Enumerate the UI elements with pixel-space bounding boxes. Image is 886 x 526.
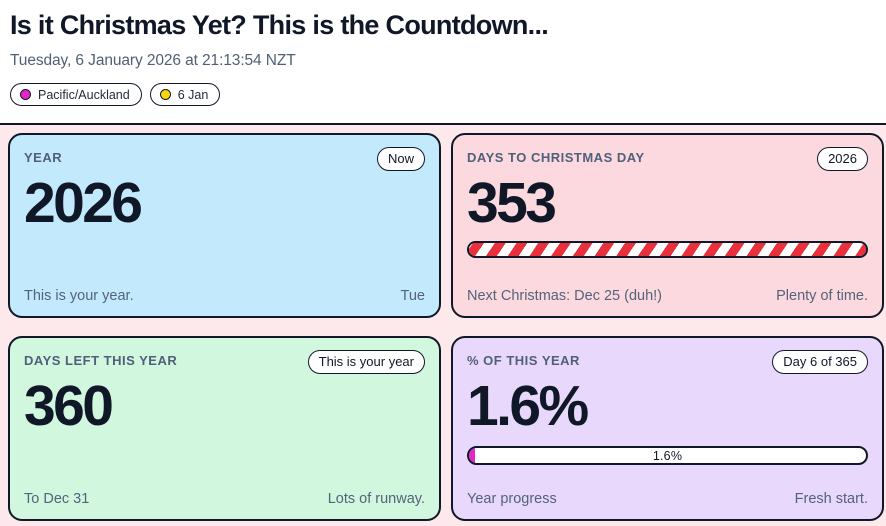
percent-year-card-foot-right: Fresh start. bbox=[795, 491, 868, 507]
countdown-page: Is it Christmas Yet? This is the Countdo… bbox=[0, 0, 886, 526]
percent-year-card[interactable]: % OF THIS YEAR Day 6 of 365 1.6% 1.6% Ye… bbox=[451, 336, 884, 521]
days-left-card-pill[interactable]: This is your year bbox=[308, 350, 425, 374]
timezone-badge[interactable]: Pacific/Auckland bbox=[10, 83, 142, 106]
days-left-card-value: 360 bbox=[24, 376, 425, 436]
magenta-dot-icon bbox=[20, 89, 31, 100]
christmas-card-foot-left: Next Christmas: Dec 25 (duh!) bbox=[467, 288, 662, 304]
timezone-badge-label: Pacific/Auckland bbox=[38, 87, 130, 103]
christmas-card-top: DAYS TO CHRISTMAS DAY 2026 bbox=[467, 147, 868, 171]
candy-cane-bar-fill bbox=[469, 243, 866, 256]
days-left-card-foot-right: Lots of runway. bbox=[328, 491, 425, 507]
year-card-label: YEAR bbox=[24, 147, 62, 167]
percent-year-card-value: 1.6% bbox=[467, 376, 868, 436]
days-left-card-foot: To Dec 31 Lots of runway. bbox=[24, 491, 425, 509]
christmas-card-value: 353 bbox=[467, 173, 868, 233]
percent-year-card-foot: Year progress Fresh start. bbox=[467, 491, 868, 509]
badge-row: Pacific/Auckland 6 Jan bbox=[10, 83, 876, 106]
candy-cane-bar bbox=[467, 241, 868, 258]
year-progress-bar-label: 1.6% bbox=[469, 448, 866, 463]
christmas-card-pill[interactable]: 2026 bbox=[817, 147, 868, 171]
year-card-value: 2026 bbox=[24, 173, 425, 233]
page-title: Is it Christmas Yet? This is the Countdo… bbox=[10, 8, 876, 42]
page-header: Is it Christmas Yet? This is the Countdo… bbox=[0, 0, 886, 123]
percent-year-card-pill[interactable]: Day 6 of 365 bbox=[772, 350, 868, 374]
year-progress-bar: 1.6% bbox=[467, 446, 868, 465]
christmas-card-foot: Next Christmas: Dec 25 (duh!) Plenty of … bbox=[467, 288, 868, 306]
stat-card-grid: YEAR Now 2026 This is your year. Tue DAY… bbox=[0, 125, 886, 526]
date-badge[interactable]: 6 Jan bbox=[150, 83, 221, 106]
year-card-top: YEAR Now bbox=[24, 147, 425, 171]
christmas-card[interactable]: DAYS TO CHRISTMAS DAY 2026 353 Next Chri… bbox=[451, 133, 884, 318]
year-card[interactable]: YEAR Now 2026 This is your year. Tue bbox=[8, 133, 441, 318]
days-left-card-top: DAYS LEFT THIS YEAR This is your year bbox=[24, 350, 425, 374]
year-card-pill[interactable]: Now bbox=[377, 147, 425, 171]
date-badge-label: 6 Jan bbox=[178, 87, 209, 103]
year-card-foot: This is your year. Tue bbox=[24, 288, 425, 306]
days-left-card[interactable]: DAYS LEFT THIS YEAR This is your year 36… bbox=[8, 336, 441, 521]
christmas-card-foot-right: Plenty of time. bbox=[776, 288, 868, 304]
percent-year-card-foot-left: Year progress bbox=[467, 491, 557, 507]
current-datetime: Tuesday, 6 January 2026 at 21:13:54 NZT bbox=[10, 51, 876, 71]
year-card-foot-left: This is your year. bbox=[24, 288, 134, 304]
percent-year-card-label: % OF THIS YEAR bbox=[467, 350, 580, 370]
percent-year-card-top: % OF THIS YEAR Day 6 of 365 bbox=[467, 350, 868, 374]
days-left-card-foot-left: To Dec 31 bbox=[24, 491, 89, 507]
yellow-dot-icon bbox=[160, 89, 171, 100]
days-left-card-label: DAYS LEFT THIS YEAR bbox=[24, 350, 177, 370]
christmas-card-label: DAYS TO CHRISTMAS DAY bbox=[467, 147, 645, 167]
year-card-foot-right: Tue bbox=[401, 288, 425, 304]
